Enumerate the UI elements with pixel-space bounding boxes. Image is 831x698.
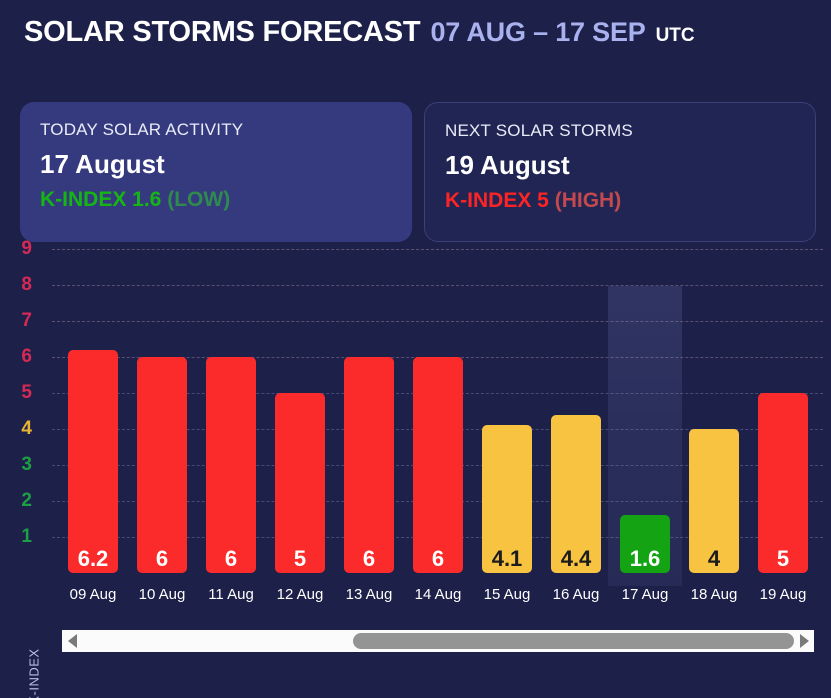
bar-18-aug[interactable]: 4 xyxy=(689,429,739,573)
card-today-kindex: K-INDEX 1.6 (LOW) xyxy=(40,188,392,212)
bar-11-aug[interactable]: 6 xyxy=(206,357,256,573)
card-today-solar-activity[interactable]: TODAY SOLAR ACTIVITY 17 August K-INDEX 1… xyxy=(20,102,412,242)
kindex-bar-chart: 987654321 6.209 Aug610 Aug611 Aug512 Aug… xyxy=(0,286,831,586)
gridline-9 xyxy=(52,249,823,250)
x-axis-label-16-aug: 16 Aug xyxy=(539,586,613,603)
bar-13-aug[interactable]: 6 xyxy=(344,357,394,573)
y-axis-title-wrap: K-INDEX xyxy=(0,610,30,690)
x-axis-label-18-aug: 18 Aug xyxy=(677,586,751,603)
bar-value-label: 6 xyxy=(432,548,444,573)
bar-15-aug[interactable]: 4.1 xyxy=(482,425,532,573)
card-today-kindex-status: (LOW) xyxy=(167,188,230,211)
horizontal-scrollbar[interactable] xyxy=(62,630,814,652)
x-axis-label-15-aug: 15 Aug xyxy=(470,586,544,603)
y-axis-tick-9: 9 xyxy=(21,238,32,260)
bar-09-aug[interactable]: 6.2 xyxy=(68,350,118,573)
page-title: SOLAR STORMS FORECAST xyxy=(24,16,420,49)
card-next-kindex-status: (HIGH) xyxy=(555,189,622,212)
card-next-kindex-value: K-INDEX 5 xyxy=(445,189,549,212)
bar-value-label: 4 xyxy=(708,548,720,573)
bar-14-aug[interactable]: 6 xyxy=(413,357,463,573)
x-axis-label-17-aug: 17 Aug xyxy=(608,586,682,603)
scrollbar-thumb[interactable] xyxy=(353,633,794,649)
bar-value-label: 6.2 xyxy=(78,548,109,573)
bar-16-aug[interactable]: 4.4 xyxy=(551,415,601,573)
x-axis-label-09-aug: 09 Aug xyxy=(56,586,130,603)
gridline-8 xyxy=(52,285,823,286)
bar-value-label: 1.6 xyxy=(630,548,661,573)
bar-value-label: 4.4 xyxy=(561,548,592,573)
bar-value-label: 6 xyxy=(225,548,237,573)
y-axis-tick-2: 2 xyxy=(21,490,32,512)
bar-19-aug[interactable]: 5 xyxy=(758,393,808,573)
x-axis-label-14-aug: 14 Aug xyxy=(401,586,475,603)
bar-value-label: 4.1 xyxy=(492,548,523,573)
scroll-left-arrow-icon[interactable] xyxy=(62,630,82,652)
y-axis-tick-1: 1 xyxy=(21,526,32,548)
gridline-7 xyxy=(52,321,823,322)
y-axis-tick-3: 3 xyxy=(21,454,32,476)
card-today-label: TODAY SOLAR ACTIVITY xyxy=(40,120,392,140)
bar-value-label: 6 xyxy=(156,548,168,573)
card-next-kindex: K-INDEX 5 (HIGH) xyxy=(445,189,795,213)
summary-cards: TODAY SOLAR ACTIVITY 17 August K-INDEX 1… xyxy=(20,102,816,242)
x-axis-label-19-aug: 19 Aug xyxy=(746,586,820,603)
y-axis-tick-6: 6 xyxy=(21,346,32,368)
solar-forecast-page: SOLAR STORMS FORECAST 07 AUG – 17 SEP UT… xyxy=(0,0,831,698)
x-axis-label-12-aug: 12 Aug xyxy=(263,586,337,603)
y-axis-tick-5: 5 xyxy=(21,382,32,404)
x-axis-label-11-aug: 11 Aug xyxy=(194,586,268,603)
bar-value-label: 5 xyxy=(777,548,789,573)
card-today-kindex-value: K-INDEX 1.6 xyxy=(40,188,161,211)
scroll-right-arrow-icon[interactable] xyxy=(794,630,814,652)
chart-plot-area: 6.209 Aug610 Aug611 Aug512 Aug613 Aug614… xyxy=(52,286,831,586)
y-axis-tick-4: 4 xyxy=(21,418,32,440)
bar-value-label: 6 xyxy=(363,548,375,573)
forecast-date-range: 07 AUG – 17 SEP xyxy=(430,17,645,48)
scrollbar-track[interactable] xyxy=(82,630,794,652)
x-axis-label-10-aug: 10 Aug xyxy=(125,586,199,603)
timezone-label: UTC xyxy=(656,25,695,47)
bar-10-aug[interactable]: 6 xyxy=(137,357,187,573)
y-axis-tick-7: 7 xyxy=(21,310,32,332)
bar-12-aug[interactable]: 5 xyxy=(275,393,325,573)
bar-value-label: 5 xyxy=(294,548,306,573)
bar-17-aug[interactable]: 1.6 xyxy=(620,515,670,573)
card-next-solar-storms[interactable]: NEXT SOLAR STORMS 19 August K-INDEX 5 (H… xyxy=(424,102,816,242)
card-next-label: NEXT SOLAR STORMS xyxy=(445,121,795,141)
y-axis-title: K-INDEX xyxy=(27,637,42,698)
chart-y-axis: 987654321 xyxy=(0,286,52,586)
x-axis-label-13-aug: 13 Aug xyxy=(332,586,406,603)
y-axis-tick-8: 8 xyxy=(21,274,32,296)
card-today-date: 17 August xyxy=(40,149,392,180)
page-header: SOLAR STORMS FORECAST 07 AUG – 17 SEP UT… xyxy=(24,16,695,49)
card-next-date: 19 August xyxy=(445,150,795,181)
